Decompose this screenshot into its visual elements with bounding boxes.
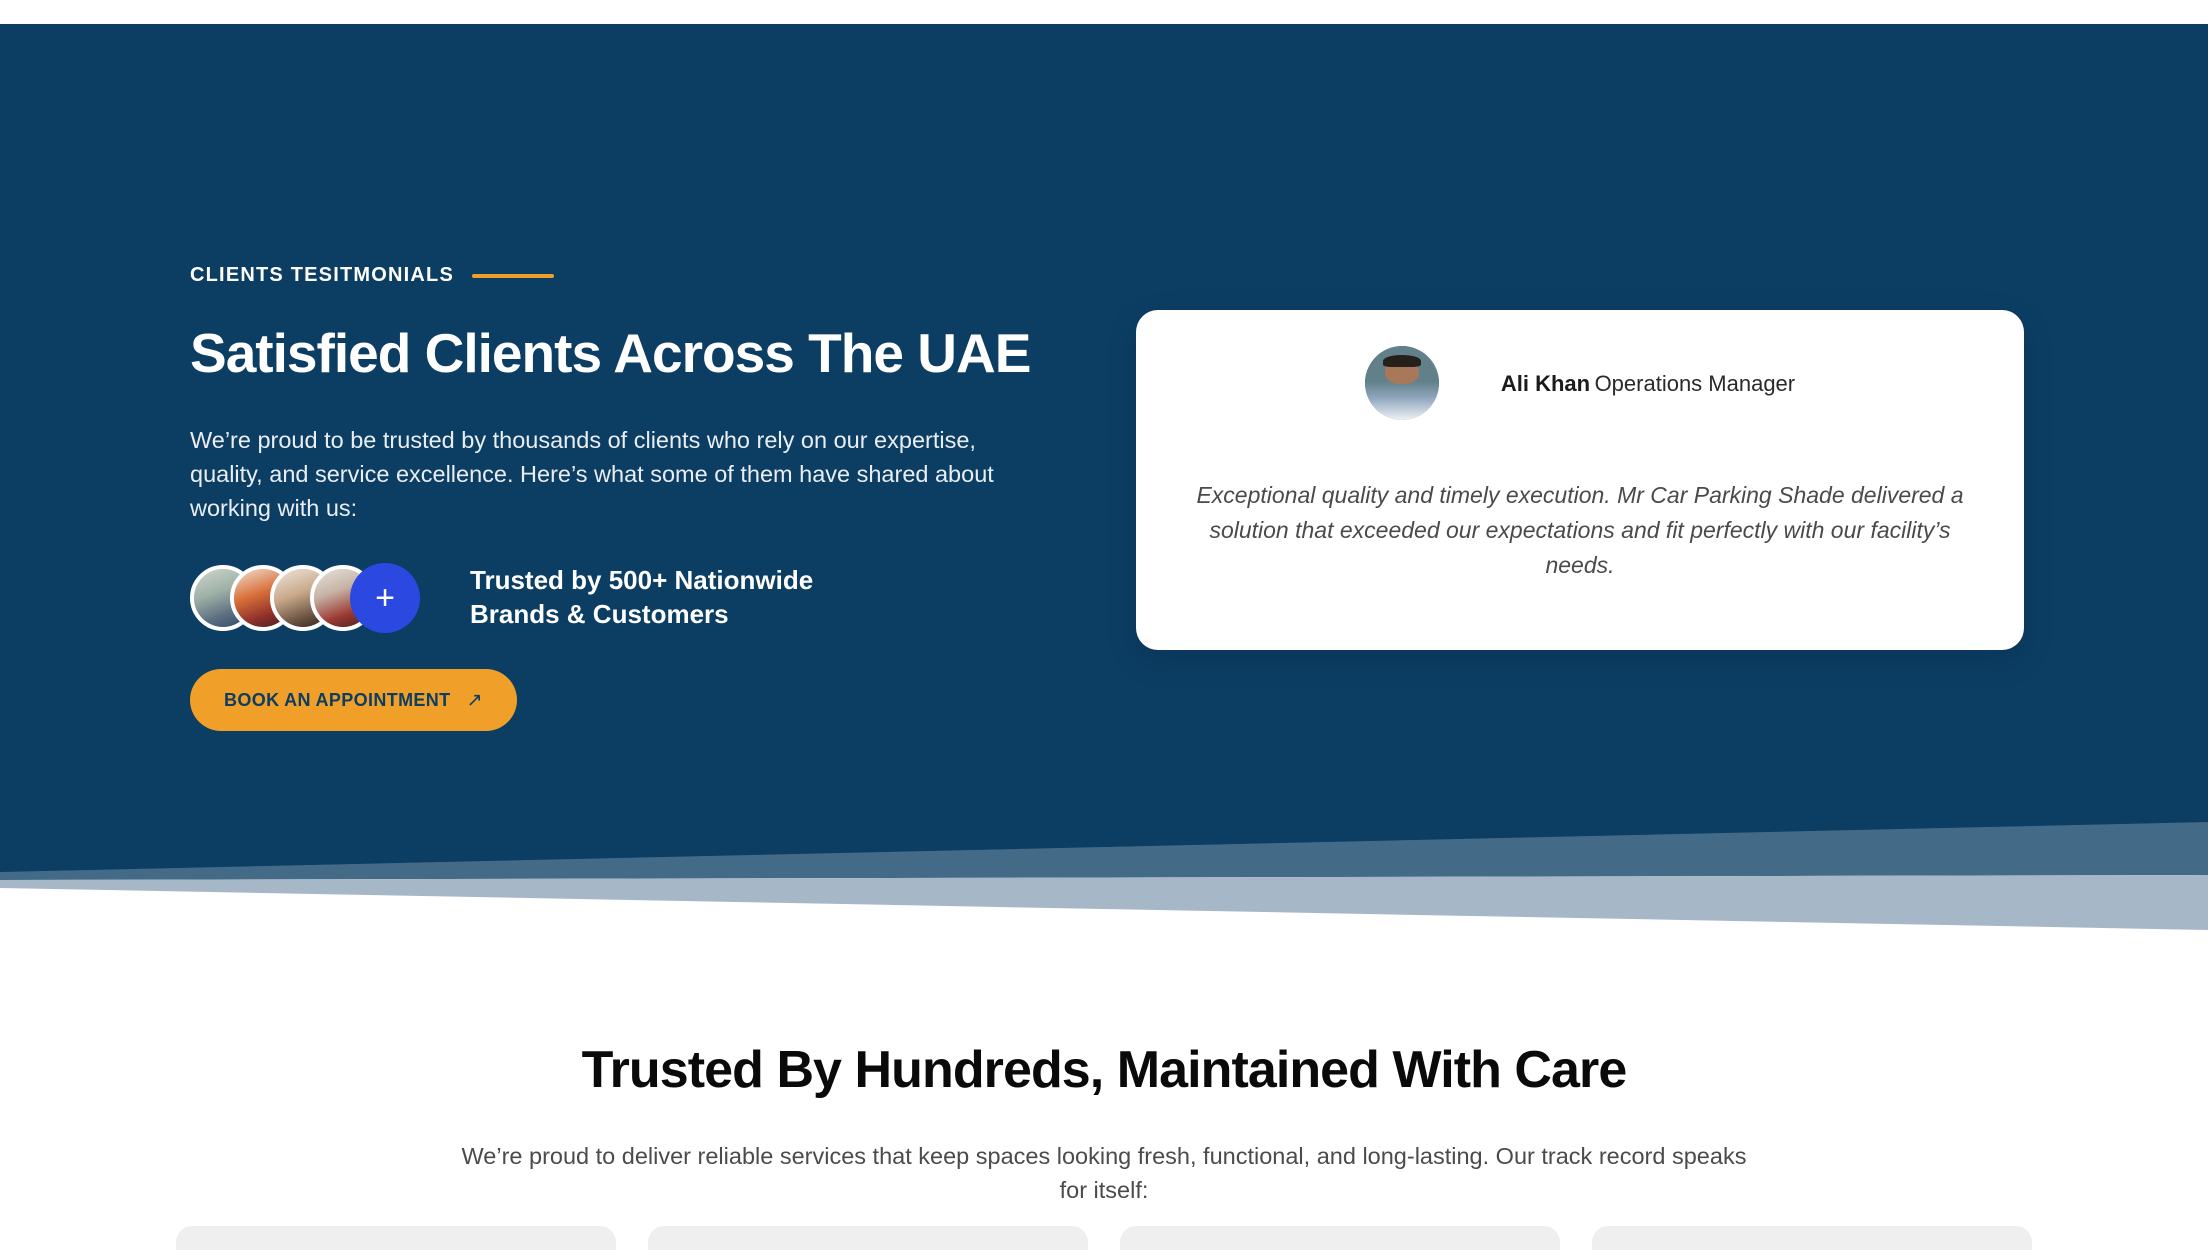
- avatar-stack: +: [190, 559, 420, 637]
- testimonial-author-role: Operations Manager: [1595, 371, 1796, 396]
- hero-paragraph: We’re proud to be trusted by thousands o…: [190, 424, 1030, 525]
- book-an-appointment-button[interactable]: BOOK AN APPOINTMENT ↗: [190, 669, 517, 731]
- stat-card-3[interactable]: [1120, 1226, 1560, 1250]
- testimonial-header: Ali Khan Operations Manager: [1136, 310, 2024, 420]
- testimonial-author: Ali Khan Operations Manager: [1501, 367, 1795, 400]
- testimonial-quote: Exceptional quality and timely execution…: [1180, 478, 1980, 583]
- book-an-appointment-label: BOOK AN APPOINTMENT: [224, 690, 451, 711]
- stats-section-subtitle: We’re proud to deliver reliable services…: [454, 1140, 1754, 1208]
- stat-card-1[interactable]: [176, 1226, 616, 1250]
- stat-card-2[interactable]: [648, 1226, 1088, 1250]
- eyebrow-rule: [472, 274, 554, 278]
- trusted-by-line-2: Brands & Customers: [470, 598, 890, 632]
- page-root: CLIENTS TESITMONIALS Satisfied Clients A…: [0, 0, 2208, 1250]
- arrow-up-right-icon: ↗: [467, 691, 483, 710]
- trusted-by-row: + Trusted by 500+ Nationwide Brands & Cu…: [190, 559, 890, 637]
- avatar: [1365, 346, 1439, 420]
- testimonial-card[interactable]: Ali Khan Operations Manager Exceptional …: [1136, 310, 2024, 650]
- avatar-more-button[interactable]: +: [350, 563, 420, 633]
- testimonial-author-name: Ali Khan: [1501, 371, 1590, 396]
- page-title: Satisfied Clients Across The UAE: [190, 324, 1190, 382]
- stat-cards-row: [0, 1226, 2208, 1250]
- top-white-strip: [0, 0, 2208, 24]
- eyebrow: CLIENTS TESITMONIALS: [190, 264, 554, 287]
- trusted-by-line-1: Trusted by 500+ Nationwide: [470, 564, 890, 598]
- eyebrow-label: CLIENTS TESITMONIALS: [190, 264, 454, 287]
- stat-card-4[interactable]: [1592, 1226, 2032, 1250]
- trusted-by-text: Trusted by 500+ Nationwide Brands & Cust…: [470, 564, 890, 632]
- stats-section-title: Trusted By Hundreds, Maintained With Car…: [0, 1040, 2208, 1100]
